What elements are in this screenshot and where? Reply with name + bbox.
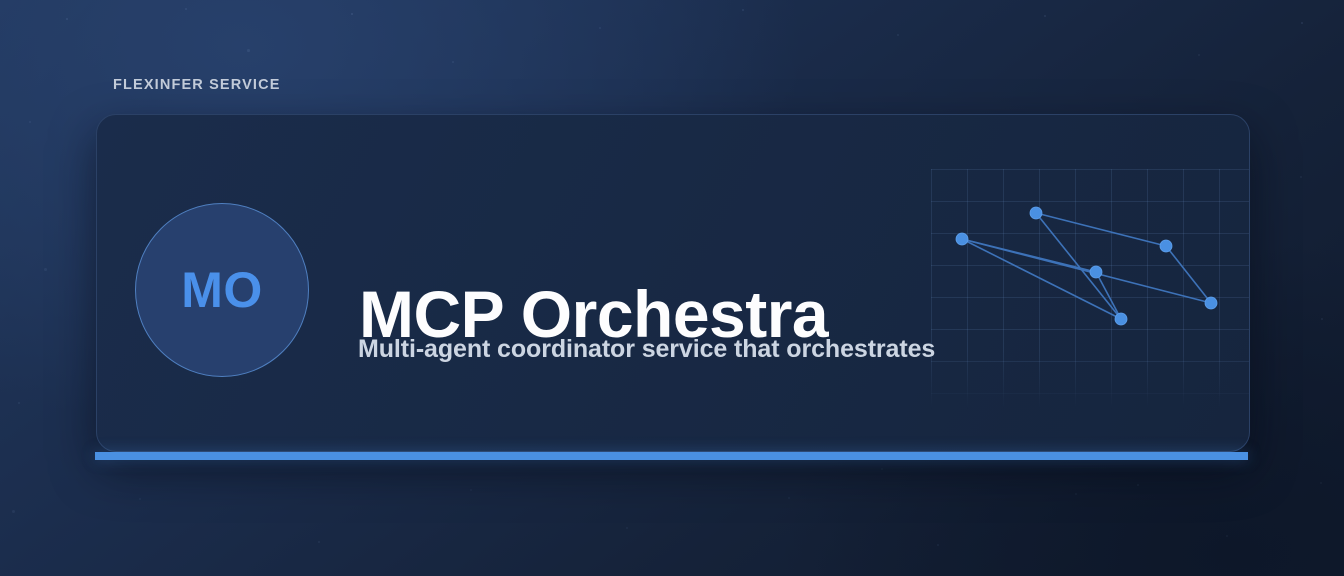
service-avatar-badge: MO <box>135 203 309 377</box>
star-dot <box>1044 15 1046 17</box>
star-dot <box>470 489 472 491</box>
star-dot <box>626 527 628 529</box>
service-subtitle: Multi-agent coordinator service that orc… <box>358 337 935 362</box>
star-dot <box>185 8 187 10</box>
service-initials: MO <box>181 265 263 315</box>
star-dot <box>12 510 15 513</box>
star-dot <box>1301 22 1303 24</box>
service-card: MO MCP Orchestra Multi-agent coordinator… <box>96 114 1250 452</box>
star-dot <box>599 27 601 29</box>
hero-banner: FLEXINFER SERVICE MO MCP Orchestra Multi… <box>0 0 1344 576</box>
star-dot <box>1300 176 1302 178</box>
star-dot <box>44 268 47 271</box>
star-dot <box>1321 318 1323 320</box>
star-dot <box>318 541 320 543</box>
star-dot <box>247 49 250 52</box>
accent-underline-bar <box>95 452 1248 460</box>
star-dot <box>351 13 353 15</box>
star-dot <box>139 498 141 500</box>
grid-background-decoration <box>931 169 1249 409</box>
star-dot <box>1226 535 1228 537</box>
star-dot <box>66 18 68 20</box>
star-dot <box>18 402 20 404</box>
star-dot <box>1198 54 1200 56</box>
service-eyebrow-label: FLEXINFER SERVICE <box>113 77 281 93</box>
star-dot <box>1075 493 1077 495</box>
star-dot <box>1137 484 1139 486</box>
star-dot <box>881 468 883 470</box>
star-dot <box>452 61 454 63</box>
star-dot <box>29 121 31 123</box>
star-dot <box>1320 482 1322 484</box>
star-dot <box>897 34 899 36</box>
star-dot <box>937 544 939 546</box>
star-dot <box>788 497 790 499</box>
star-dot <box>742 9 744 11</box>
